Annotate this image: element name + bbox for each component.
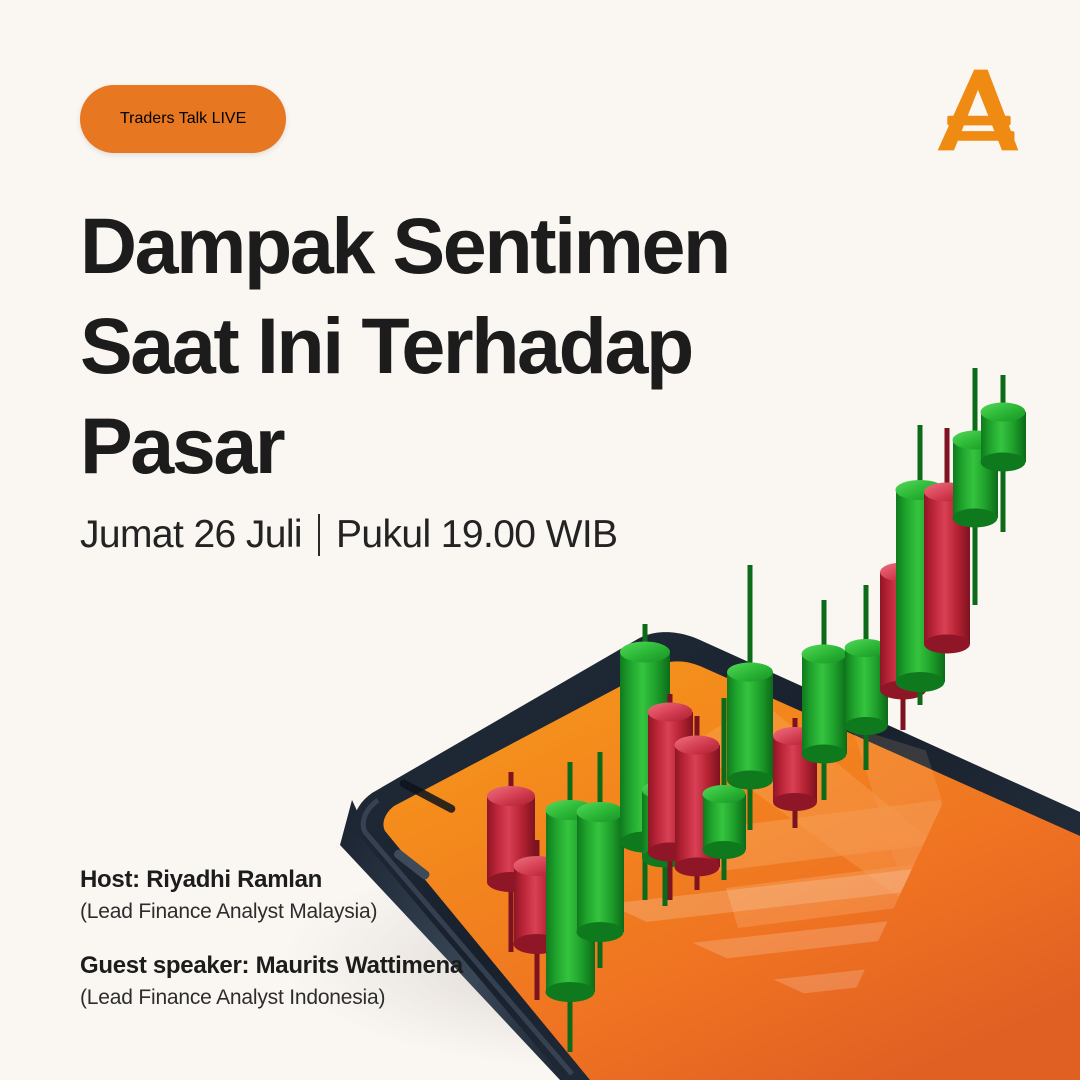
guest-role: (Lead Finance Analyst Indonesia) bbox=[80, 986, 463, 1010]
credit-guest: Guest speaker: Maurits Wattimena (Lead F… bbox=[80, 952, 463, 1010]
event-time: Pukul 19.00 WIB bbox=[336, 513, 617, 557]
promo-poster: Traders Talk LIVE Dampak Sentimen Saat I… bbox=[0, 0, 1080, 1080]
guest-name: Guest speaker: Maurits Wattimena bbox=[80, 952, 463, 980]
event-schedule: Jumat 26 Juli Pukul 19.00 WIB bbox=[80, 513, 617, 557]
host-role: (Lead Finance Analyst Malaysia) bbox=[80, 900, 463, 924]
headline-line-1: Dampak Sentimen bbox=[80, 196, 840, 296]
credit-host: Host: Riyadhi Ramlan (Lead Finance Analy… bbox=[80, 866, 463, 924]
headline-line-3: Pasar bbox=[80, 396, 840, 496]
event-date: Jumat 26 Juli bbox=[80, 513, 302, 557]
headline-line-2: Saat Ini Terhadap bbox=[80, 296, 840, 396]
page-title: Dampak Sentimen Saat Ini Terhadap Pasar bbox=[80, 196, 840, 496]
separator-divider bbox=[318, 514, 320, 556]
host-name: Host: Riyadhi Ramlan bbox=[80, 866, 463, 894]
speaker-credits: Host: Riyadhi Ramlan (Lead Finance Analy… bbox=[80, 866, 463, 1010]
